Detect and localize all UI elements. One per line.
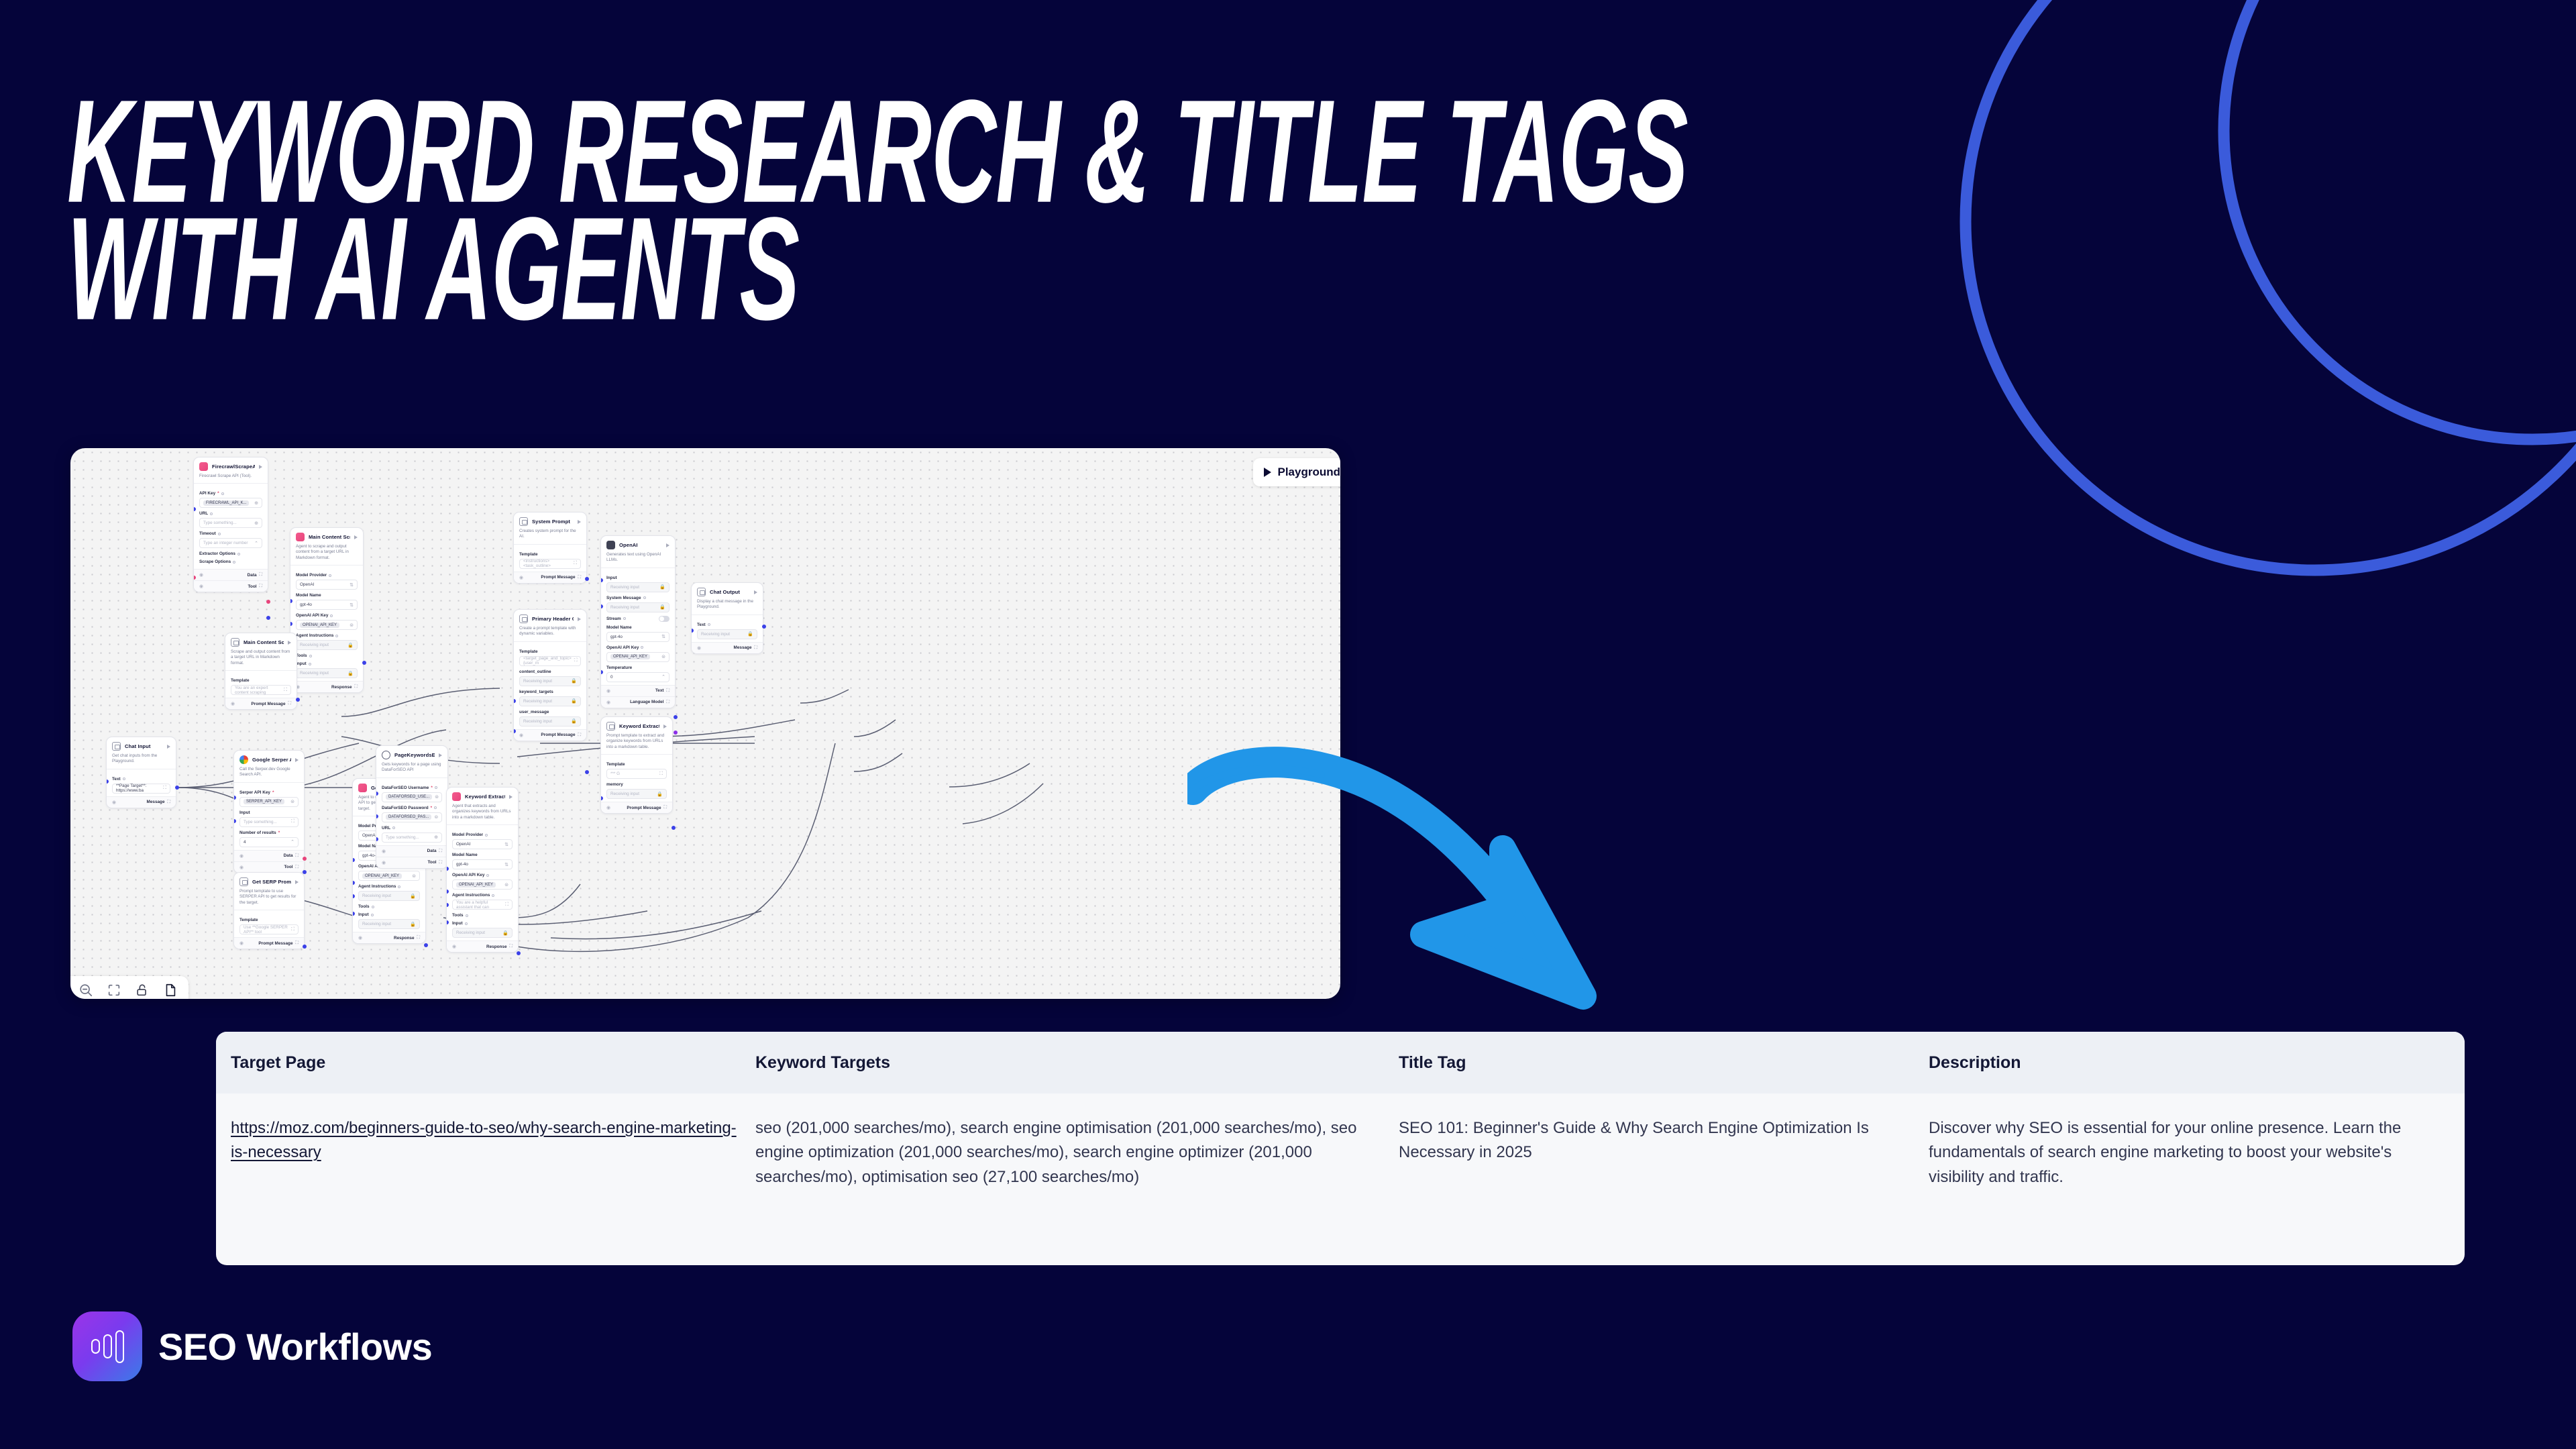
node-title: PageKeywordsExtr... — [394, 752, 435, 758]
node-title: Chat Input — [125, 743, 151, 749]
run-node-icon[interactable] — [288, 641, 291, 645]
node-keyword-extraction-prompt[interactable]: Keyword Extraction... Prompt template to… — [600, 716, 673, 814]
prompt-icon — [239, 877, 248, 886]
agent-instructions-input[interactable]: Receiving input🔒 — [296, 640, 358, 650]
agent-instructions-input[interactable]: You are a helpful assistant that can⛶ — [452, 900, 513, 910]
stream-toggle[interactable] — [659, 616, 669, 622]
node-system-prompt[interactable]: System Prompt Creates system prompt for … — [513, 512, 587, 584]
node-title: Primary Header Cre... — [532, 616, 574, 622]
openai-icon — [606, 541, 615, 549]
openai-api-key-input[interactable]: OPENAI_API_KEY⊜ — [452, 879, 513, 890]
node-title: Main Content Scra... — [309, 534, 350, 540]
node-title: System Prompt — [532, 519, 570, 525]
port[interactable] — [585, 770, 589, 774]
notes-page-icon[interactable] — [163, 983, 178, 998]
model-provider-select[interactable]: OpenAI⇅ — [296, 580, 358, 590]
template-input[interactable]: <instructions> <task_outline>⛶ — [519, 559, 581, 569]
node-description: Creates system prompt for the AI. — [514, 529, 586, 544]
number-of-results-input[interactable]: 4⌃ — [239, 837, 299, 847]
input-field[interactable]: Receiving input🔒 — [606, 582, 669, 592]
column-header-title-tag: Title Tag — [1393, 1053, 1917, 1073]
node-output-data[interactable]: ◉Data⛶ — [194, 569, 268, 580]
temperature-input[interactable]: 0⌃ — [606, 672, 669, 682]
node-output-prompt-message[interactable]: ◉Prompt Message⛶ — [225, 698, 297, 709]
run-node-icon[interactable] — [666, 543, 669, 547]
workflow-canvas-screenshot: FirecrawlScrapeApiTool Firecrawl Scrape … — [70, 448, 1340, 999]
port[interactable] — [424, 943, 428, 947]
run-node-icon[interactable] — [509, 795, 513, 799]
node-output-message[interactable]: ◉Message⛶ — [692, 642, 763, 653]
api-key-input[interactable]: FIRECRAWL_API_K...⊕ — [199, 498, 262, 508]
cell-target-page: https://moz.com/beginners-guide-to-seo/w… — [216, 1116, 746, 1189]
target-page-link[interactable]: https://moz.com/beginners-guide-to-seo/w… — [231, 1119, 737, 1161]
model-name-select[interactable]: gpt-4o⇅ — [296, 600, 358, 610]
table-row: https://moz.com/beginners-guide-to-seo/w… — [216, 1093, 2465, 1189]
port[interactable] — [674, 731, 678, 735]
extractor-options-label: Extractor Options — [199, 551, 262, 556]
url-input[interactable]: Type something...⊕ — [199, 518, 262, 528]
scrape-options-label: Scrape Options — [199, 559, 262, 564]
run-node-icon[interactable] — [578, 617, 581, 621]
port[interactable] — [674, 715, 678, 719]
canvas-toolbar[interactable] — [70, 976, 189, 999]
node-description: Get chat inputs from the Playground. — [107, 753, 176, 769]
run-node-icon[interactable] — [295, 758, 299, 762]
url-input[interactable]: Type something...⊕ — [382, 833, 442, 843]
column-header-target-page: Target Page — [216, 1053, 746, 1073]
input-field[interactable]: Receiving input🔒 — [296, 668, 358, 678]
port[interactable] — [517, 951, 521, 955]
prompt-icon — [606, 722, 615, 731]
template-input[interactable]: You are an expert content scraping⛶ — [231, 685, 291, 695]
template-input[interactable]: <target_page_and_topic> {user_m⛶ — [519, 656, 581, 666]
text-input[interactable]: Receiving input🔒 — [697, 629, 757, 639]
results-table: Target Page Keyword Targets Title Tag De… — [216, 1032, 2465, 1265]
run-node-icon[interactable] — [663, 724, 667, 729]
node-description: Agent to scrape and output content from … — [290, 544, 363, 565]
node-description: Gets keywords for a page using DataForSE… — [376, 762, 447, 777]
playground-button-label: Playground — [1277, 466, 1340, 479]
port[interactable] — [303, 857, 307, 861]
question-icon — [382, 751, 390, 759]
serper-input[interactable]: Type something...⛶ — [239, 817, 299, 827]
user-message-input[interactable]: Receiving input🔒 — [519, 716, 581, 727]
node-output-response[interactable]: ◉Response⛶ — [290, 681, 363, 692]
memory-input[interactable]: Receiving input🔒 — [606, 789, 667, 799]
brand-footer: SEO Workflows — [72, 1311, 432, 1381]
node-title: Keyword Extraction... — [619, 723, 659, 729]
port[interactable] — [175, 786, 179, 790]
chat-text-input[interactable]: **Page Target**: https://www.ba⛶ — [112, 784, 170, 794]
node-output-prompt-message[interactable]: ◉Prompt Message⛶ — [601, 802, 672, 813]
agent-icon — [358, 784, 367, 792]
port[interactable] — [266, 600, 270, 604]
port[interactable] — [303, 945, 307, 949]
prompt-icon — [231, 638, 239, 647]
system-message-input[interactable]: Receiving input🔒 — [606, 602, 669, 612]
dataforseo-username-input[interactable]: DATAFORSEO_USE...⊜ — [382, 792, 442, 802]
node-output-prompt-message[interactable]: ◉Prompt Message⛶ — [234, 937, 304, 949]
table-header-row: Target Page Keyword Targets Title Tag De… — [216, 1032, 2465, 1093]
template-input[interactable]: *** G⛶ — [606, 769, 667, 779]
node-page-keywords-extractor[interactable]: PageKeywordsExtr... Gets keywords for a … — [376, 745, 448, 869]
column-header-keyword-targets: Keyword Targets — [746, 1053, 1393, 1073]
node-description: Display a chat message in the Playground… — [692, 599, 763, 614]
node-firecrawl-scrape-api-tool[interactable]: FirecrawlScrapeApiTool Firecrawl Scrape … — [193, 457, 268, 592]
zoom-out-icon[interactable] — [78, 983, 93, 998]
google-icon — [239, 755, 248, 764]
node-title: Main Content Scra... — [244, 639, 284, 645]
title-line-2: WITH AI AGENTS — [67, 198, 1784, 340]
bar-chart-logo-icon — [72, 1311, 142, 1381]
node-title: Keyword Extraction... — [465, 794, 505, 800]
node-main-content-scraper-agent[interactable]: Main Content Scra... Agent to scrape and… — [290, 527, 364, 693]
content-outline-input[interactable]: Receiving input🔒 — [519, 676, 581, 686]
node-output-response[interactable]: ◉Response⛶ — [353, 932, 425, 943]
port[interactable] — [303, 870, 307, 874]
column-header-description: Description — [1917, 1053, 2465, 1073]
tools-label: Tools — [358, 904, 420, 909]
port[interactable] — [672, 826, 676, 830]
run-node-icon[interactable] — [295, 880, 299, 884]
node-title: Google Serper API — [252, 757, 291, 763]
run-node-icon[interactable] — [578, 520, 581, 524]
cell-description: Discover why SEO is essential for your o… — [1917, 1116, 2465, 1189]
lock-open-icon[interactable] — [135, 983, 150, 998]
model-name-select[interactable]: gpt-4o⇅ — [606, 632, 669, 642]
port[interactable] — [266, 616, 270, 620]
stream-toggle-row: Stream — [606, 616, 669, 622]
tools-label: Tools — [452, 913, 513, 918]
node-description: Firecrawl Scrape API (Tool). — [194, 474, 268, 483]
node-output-prompt-message[interactable]: ◉Prompt Message⛶ — [514, 572, 586, 583]
run-node-icon[interactable] — [167, 745, 170, 749]
node-title: OpenAI — [619, 542, 638, 548]
openai-api-key-input[interactable]: OPENAI_API_KEY⊜ — [296, 620, 358, 630]
run-node-icon[interactable] — [354, 535, 358, 539]
node-description: Call the Serper.dev Google Search API. — [234, 767, 304, 782]
node-description: Generates text using OpenAI LLMs. — [601, 552, 675, 568]
serper-api-key-input[interactable]: SERPER_API_KEY⊜ — [239, 797, 299, 807]
port[interactable] — [362, 661, 366, 665]
input-field[interactable]: Receiving input🔒 — [452, 928, 513, 938]
timeout-input[interactable]: Type an integer number⌃ — [199, 538, 262, 548]
openai-api-key-input[interactable]: OPENAI_API_KEY⊜ — [606, 652, 669, 662]
node-header: FirecrawlScrapeApiTool — [194, 458, 268, 474]
node-google-serper-api[interactable]: Google Serper API Call the Serper.dev Go… — [233, 750, 305, 873]
chat-icon — [697, 588, 706, 596]
field-label: URL — [199, 511, 262, 516]
cell-title-tag: SEO 101: Beginner's Guide & Why Search E… — [1393, 1116, 1917, 1189]
node-openai[interactable]: OpenAI Generates text using OpenAI LLMs.… — [600, 535, 676, 708]
agent-icon — [452, 792, 461, 801]
node-description: Prompt template to use SERPER API to get… — [234, 889, 304, 910]
openai-api-key-input[interactable]: OPENAI_API_KEY⊜ — [358, 871, 420, 881]
field-label: API Key* — [199, 491, 262, 496]
page-title: KEYWORD RESEARCH & TITLE TAGS WITH AI AG… — [67, 80, 2214, 307]
node-get-serp-prompt[interactable]: Get SERP Prompt Prompt template to use S… — [233, 872, 305, 949]
field-label: Timeout — [199, 531, 262, 536]
node-keyword-extraction-agent[interactable]: Keyword Extraction... Agent that extract… — [446, 787, 519, 953]
run-node-icon[interactable] — [754, 590, 757, 594]
node-output-data[interactable]: ◉Data⛶ — [234, 850, 304, 861]
tools-label: Tools — [296, 653, 358, 658]
node-output-tool[interactable]: ◉Tool⛶ — [234, 861, 304, 873]
model-name-select[interactable]: gpt-4o⇅ — [452, 859, 513, 869]
node-primary-header-creator[interactable]: Primary Header Cre... Create a prompt te… — [513, 609, 587, 741]
node-description: Create a prompt template with dynamic va… — [514, 626, 586, 641]
node-output-tool[interactable]: ◉Tool⛶ — [194, 580, 268, 592]
prompt-icon — [519, 517, 528, 526]
node-description: Prompt template to extract and organize … — [601, 733, 672, 754]
node-output-data[interactable]: ◉Data⛶ — [376, 845, 447, 857]
agent-icon — [296, 533, 305, 541]
node-output-message[interactable]: ◉Message⛶ — [107, 796, 176, 808]
node-main-content-scraper-prompt[interactable]: Main Content Scra... Scrape and output c… — [225, 633, 297, 710]
fit-view-icon[interactable] — [107, 983, 121, 998]
run-node-icon[interactable] — [439, 753, 442, 757]
node-output-language-model[interactable]: ◉Language Model⛶ — [601, 696, 675, 708]
port[interactable] — [296, 698, 300, 702]
node-output-prompt-message[interactable]: ◉Prompt Message⛶ — [514, 729, 586, 741]
chat-icon — [112, 742, 121, 751]
keyword-targets-input[interactable]: Receiving input🔒 — [519, 696, 581, 706]
brand-name: SEO Workflows — [158, 1325, 432, 1368]
node-body: API Key* FIRECRAWL_API_K...⊕ URL Type so… — [194, 484, 268, 569]
node-chat-output[interactable]: Chat Output Display a chat message in th… — [691, 582, 763, 654]
firecrawl-icon — [199, 462, 208, 471]
cell-keyword-targets: seo (201,000 searches/mo), search engine… — [746, 1116, 1393, 1189]
play-icon — [1264, 468, 1271, 477]
port[interactable] — [762, 625, 766, 629]
node-output-tool[interactable]: ◉Tool⛶ — [376, 857, 447, 868]
node-output-text[interactable]: ◉Text⛶ — [601, 685, 675, 696]
prompt-icon — [519, 614, 528, 623]
input-field[interactable]: Receiving input🔒 — [358, 919, 420, 929]
node-title: Get SERP Prompt — [252, 879, 291, 885]
node-description: Scrape and output content from a target … — [225, 649, 297, 670]
playground-button[interactable]: Playground — [1253, 458, 1340, 486]
node-chat-input[interactable]: Chat Input Get chat inputs from the Play… — [106, 737, 176, 808]
port[interactable] — [585, 577, 589, 581]
node-title: FirecrawlScrapeApiTool — [212, 464, 255, 470]
agent-instructions-input[interactable]: Receiving input🔒 — [358, 891, 420, 901]
run-node-icon[interactable] — [259, 465, 262, 469]
node-title: Chat Output — [710, 589, 740, 595]
node-description: Agent that extracts and organizes keywor… — [447, 804, 518, 824]
template-input[interactable]: Use **Google SERPER API** tool⛶ — [239, 924, 299, 934]
node-output-response[interactable]: ◉Response⛶ — [447, 941, 518, 952]
dataforseo-password-input[interactable]: DATAFORSEO_PAS...⊜ — [382, 812, 442, 822]
model-provider-select[interactable]: OpenAI⇅ — [452, 839, 513, 849]
